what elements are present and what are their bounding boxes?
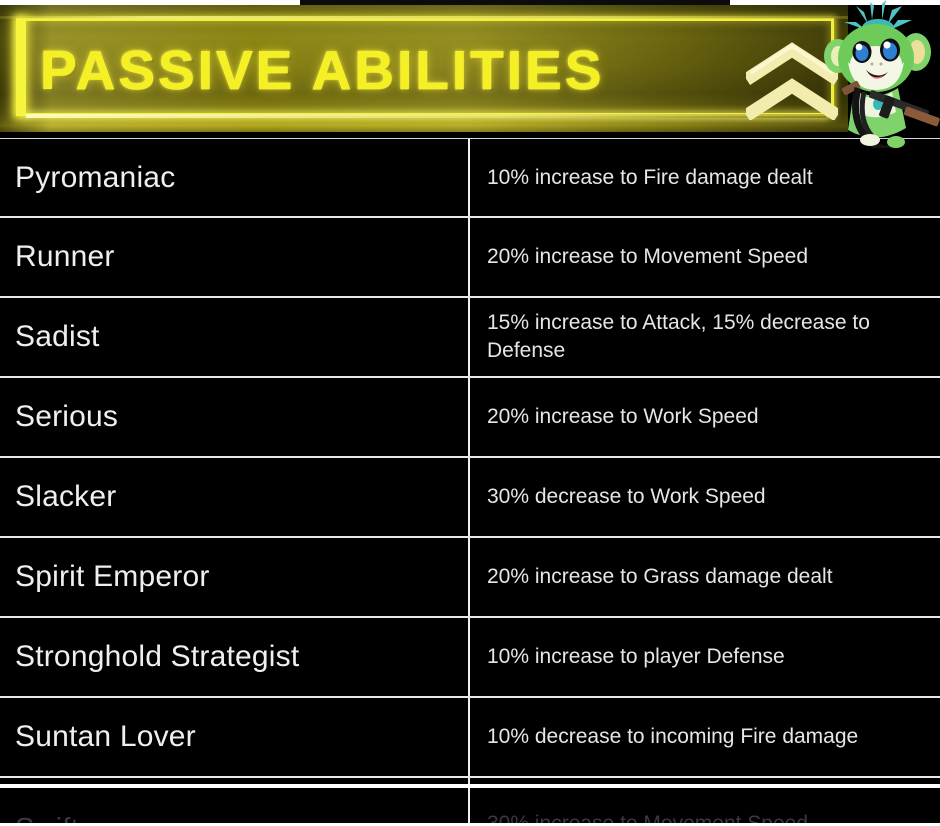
ability-effect: 30% decrease to Work Speed bbox=[470, 458, 940, 536]
ability-name: Runner bbox=[0, 218, 470, 296]
banner-top-highlight bbox=[0, 16, 848, 19]
ability-name: Stronghold Strategist bbox=[0, 618, 470, 696]
ability-effect: 20% increase to Grass damage dealt bbox=[470, 538, 940, 616]
banner-bottom-highlight bbox=[26, 114, 826, 118]
table-row[interactable]: Runner 20% increase to Movement Speed bbox=[0, 218, 940, 298]
bottom-white-edge bbox=[0, 784, 940, 788]
ability-name: Spirit Emperor bbox=[0, 538, 470, 616]
table-row[interactable]: Serious 20% increase to Work Speed bbox=[0, 378, 940, 458]
mascot-pal-icon bbox=[812, 0, 940, 148]
table-row[interactable]: Slacker 30% decrease to Work Speed bbox=[0, 458, 940, 538]
ability-effect: 10% increase to player Defense bbox=[470, 618, 940, 696]
table-row[interactable]: Spirit Emperor 20% increase to Grass dam… bbox=[0, 538, 940, 618]
ability-effect: 10% increase to Fire damage dealt bbox=[470, 139, 940, 216]
banner-left-accent-bar bbox=[16, 18, 26, 116]
ability-effect: 15% increase to Attack, 15% decrease to … bbox=[470, 298, 940, 376]
passive-abilities-table: Pyromaniac 10% increase to Fire damage d… bbox=[0, 138, 940, 788]
page-title: PASSIVE ABILITIES bbox=[40, 40, 604, 100]
table-row[interactable]: Pyromaniac 10% increase to Fire damage d… bbox=[0, 138, 940, 218]
ability-name: Sadist bbox=[0, 298, 470, 376]
page-header: PASSIVE ABILITIES bbox=[0, 0, 940, 138]
ability-name: Suntan Lover bbox=[0, 698, 470, 776]
ability-effect: 20% increase to Movement Speed bbox=[470, 218, 940, 296]
table-row[interactable]: Suntan Lover 10% decrease to incoming Fi… bbox=[0, 698, 940, 778]
ability-name: Slacker bbox=[0, 458, 470, 536]
ability-effect: 20% increase to Work Speed bbox=[470, 378, 940, 456]
table-row[interactable]: Sadist 15% increase to Attack, 15% decre… bbox=[0, 298, 940, 378]
banner-plate: PASSIVE ABILITIES bbox=[0, 4, 848, 132]
ability-name: Serious bbox=[0, 378, 470, 456]
ability-name: Pyromaniac bbox=[0, 139, 470, 216]
table-row[interactable]: Stronghold Strategist 10% increase to pl… bbox=[0, 618, 940, 698]
top-dark-notch bbox=[300, 0, 730, 5]
ability-effect: 10% decrease to incoming Fire damage bbox=[470, 698, 940, 776]
